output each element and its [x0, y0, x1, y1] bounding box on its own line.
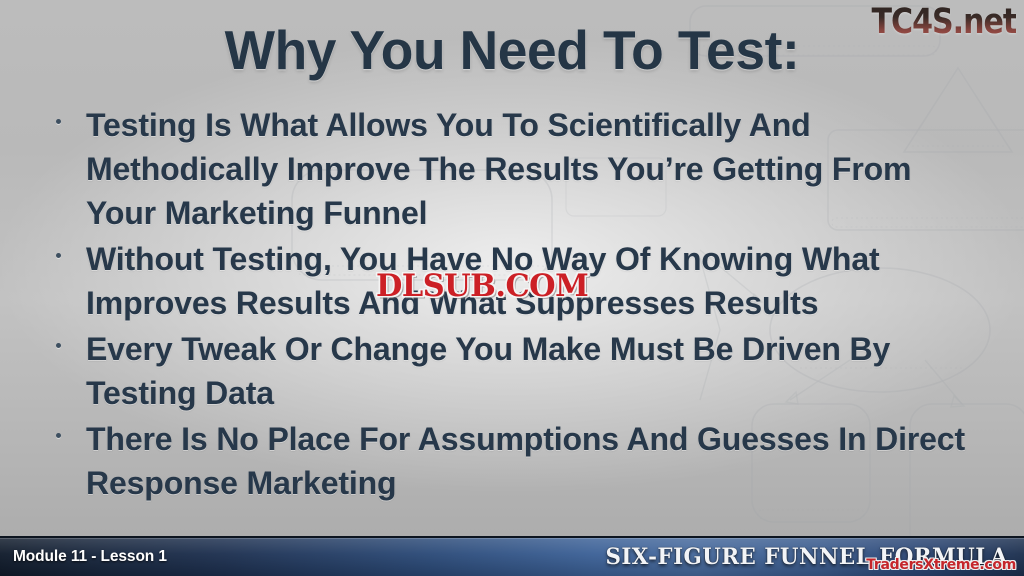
slide: .bx { fill:none; stroke:#9ea3a8; stroke-… — [0, 0, 1024, 576]
bullet-text: There Is No Place For Assumptions And Gu… — [86, 417, 982, 505]
footer-bar: Module 11 - Lesson 1 SIX-FIGURE FUNNEL F… — [0, 536, 1024, 576]
bullet-dot-icon — [56, 343, 61, 348]
bullet-item: Every Tweak Or Change You Make Must Be D… — [46, 327, 996, 415]
bullet-dot-icon — [56, 433, 61, 438]
bullet-text: Testing Is What Allows You To Scientific… — [86, 103, 982, 235]
bullet-item: Testing Is What Allows You To Scientific… — [46, 103, 996, 235]
watermark-tradersxtreme: TradersXtreme.com — [866, 557, 1016, 573]
bullet-text: Every Tweak Or Change You Make Must Be D… — [86, 327, 982, 415]
watermark-dlsub: DLSUB.COM — [376, 268, 588, 304]
bullet-list: Testing Is What Allows You To Scientific… — [46, 103, 996, 507]
bullet-item: There Is No Place For Assumptions And Gu… — [46, 417, 996, 505]
footer-lesson-label: Module 11 - Lesson 1 — [13, 548, 167, 566]
slide-title: Why You Need To Test: — [15, 18, 1008, 82]
watermark-tc4s: TC4S.net — [871, 2, 1016, 42]
bullet-dot-icon — [56, 119, 61, 124]
bullet-dot-icon — [56, 253, 61, 258]
